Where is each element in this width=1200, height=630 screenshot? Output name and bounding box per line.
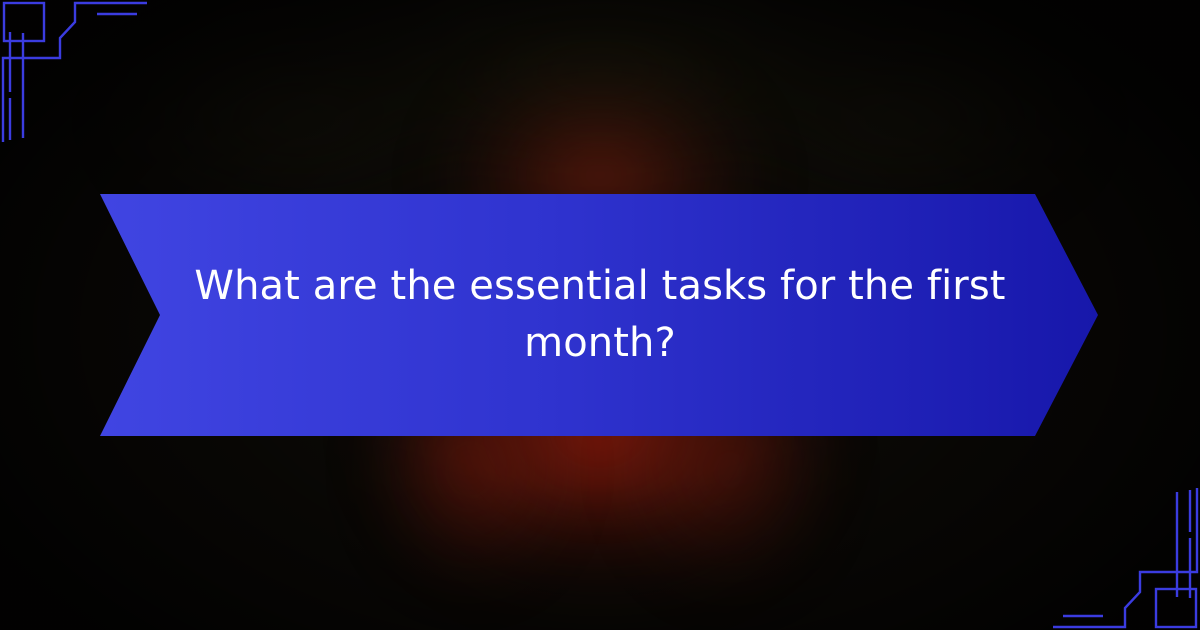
question-banner: What are the essential tasks for the fir…: [0, 194, 1200, 436]
corner-bracket-top-left-icon: [0, 0, 200, 170]
corner-bracket-bottom-right-icon: [1000, 460, 1200, 630]
question-text: What are the essential tasks for the fir…: [250, 194, 950, 436]
question-line-1: What are the essential tasks for the fir…: [194, 258, 1005, 315]
slide-canvas: What are the essential tasks for the fir…: [0, 0, 1200, 630]
question-line-2: month?: [524, 315, 676, 372]
